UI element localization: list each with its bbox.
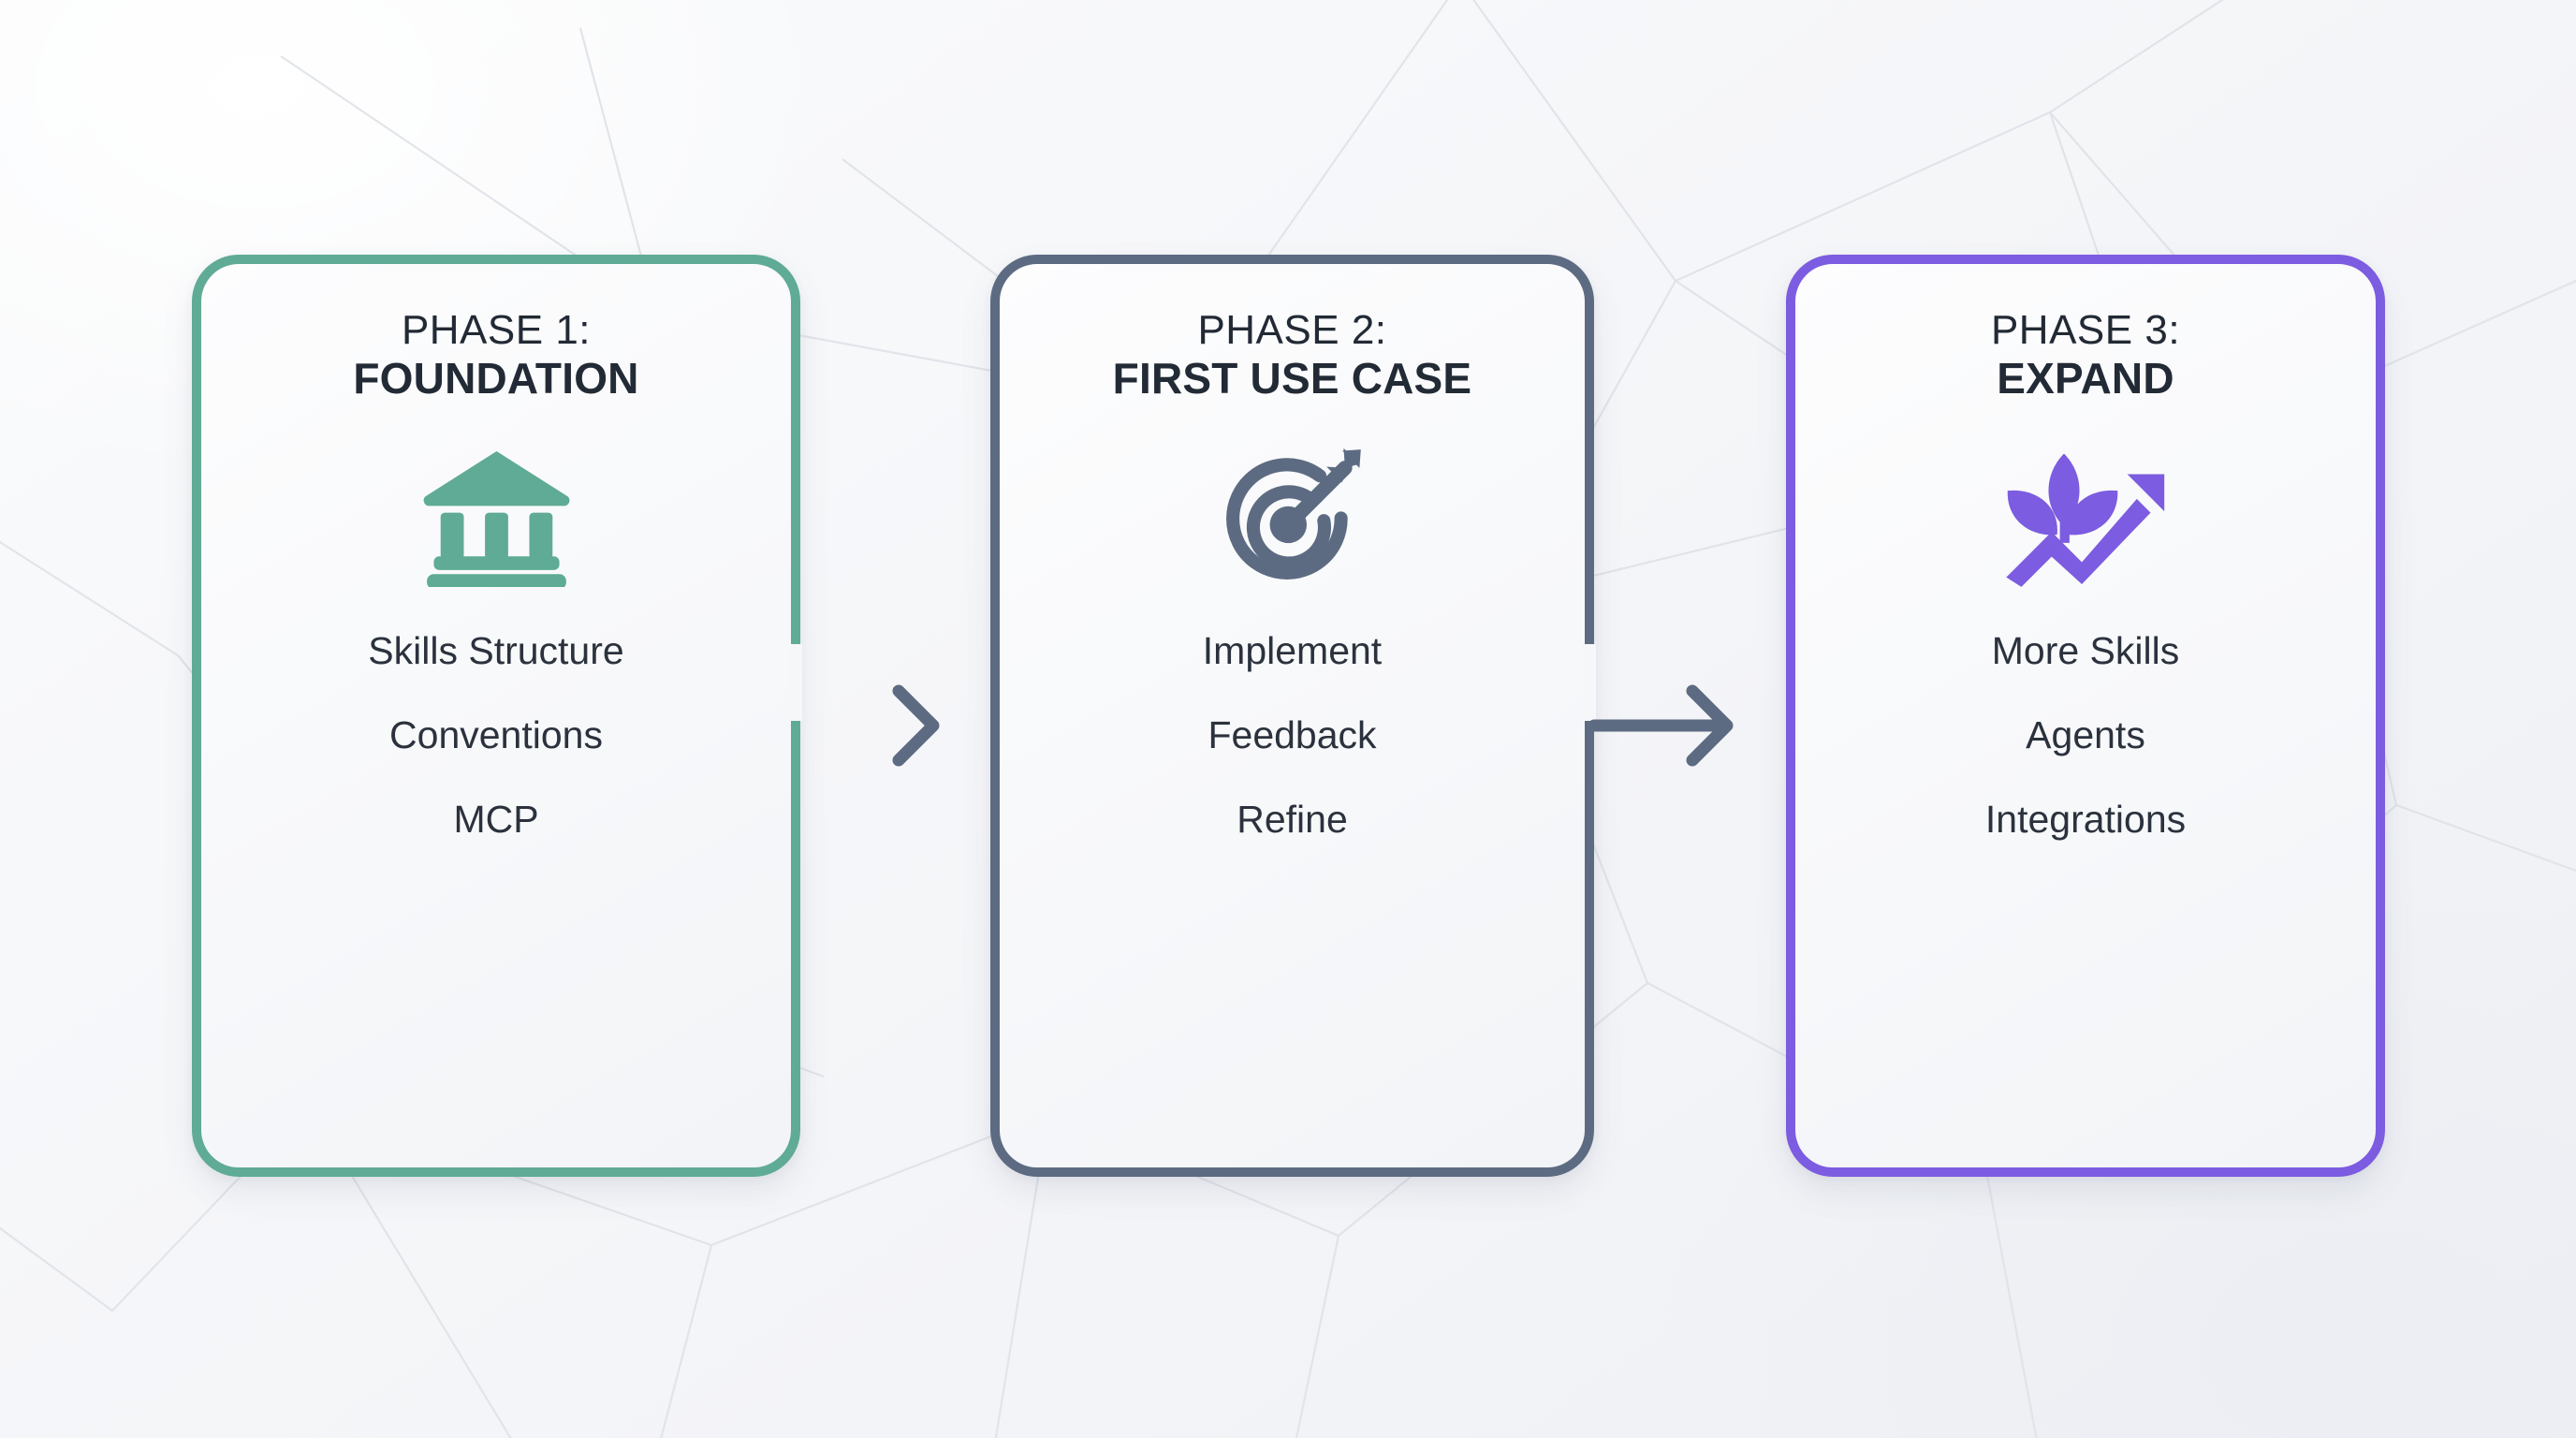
phase-card-1[interactable]: PHASE 1: FOUNDATION Skills Structure Con… — [192, 255, 800, 1177]
phase-card-2[interactable]: PHASE 2: FIRST USE CASE Implement Feedba… — [990, 255, 1594, 1177]
arrow-right-icon — [899, 691, 933, 760]
phase-card-2-border-gap — [1583, 644, 1596, 721]
target-arrow-icon — [1220, 456, 1365, 578]
connector-2-3 — [1561, 613, 1823, 829]
list-item: Feedback — [1000, 716, 1585, 755]
list-item: Integrations — [1795, 800, 2376, 839]
arrow-right-icon — [1692, 691, 1727, 760]
phase-card-2-title-line1: PHASE 2: — [1113, 307, 1472, 354]
phase-card-2-title: PHASE 2: FIRST USE CASE — [1113, 307, 1472, 404]
phase-card-1-title-line1: PHASE 1: — [353, 307, 638, 354]
phase-card-2-items: Implement Feedback Refine — [1000, 632, 1585, 839]
phase-card-3-title-line2: EXPAND — [1991, 354, 2180, 403]
list-item: Refine — [1000, 800, 1585, 839]
list-item: Implement — [1000, 632, 1585, 670]
phase-card-3[interactable]: PHASE 3: EXPAND More Skills Agents Integ… — [1786, 255, 2385, 1177]
phase-card-3-items: More Skills Agents Integrations — [1795, 632, 2376, 839]
list-item: More Skills — [1795, 632, 2376, 670]
phase-card-3-title: PHASE 3: EXPAND — [1991, 307, 2180, 404]
list-item: Conventions — [201, 716, 791, 755]
phase-roadmap-diagram: PHASE 1: FOUNDATION Skills Structure Con… — [0, 0, 2576, 1438]
list-item: Agents — [1795, 716, 2376, 755]
phase-card-1-title: PHASE 1: FOUNDATION — [353, 307, 638, 404]
phase-card-1-items: Skills Structure Conventions MCP — [201, 632, 791, 839]
phase-card-1-title-line2: FOUNDATION — [353, 354, 638, 403]
phase-card-3-title-line1: PHASE 3: — [1991, 307, 2180, 354]
list-item: Skills Structure — [201, 632, 791, 670]
list-item: MCP — [201, 800, 791, 839]
phase-card-1-border-gap — [789, 644, 802, 721]
phase-card-2-title-line2: FIRST USE CASE — [1113, 354, 1472, 403]
growth-arrow-icon — [1999, 456, 2173, 578]
bank-icon — [415, 456, 578, 578]
